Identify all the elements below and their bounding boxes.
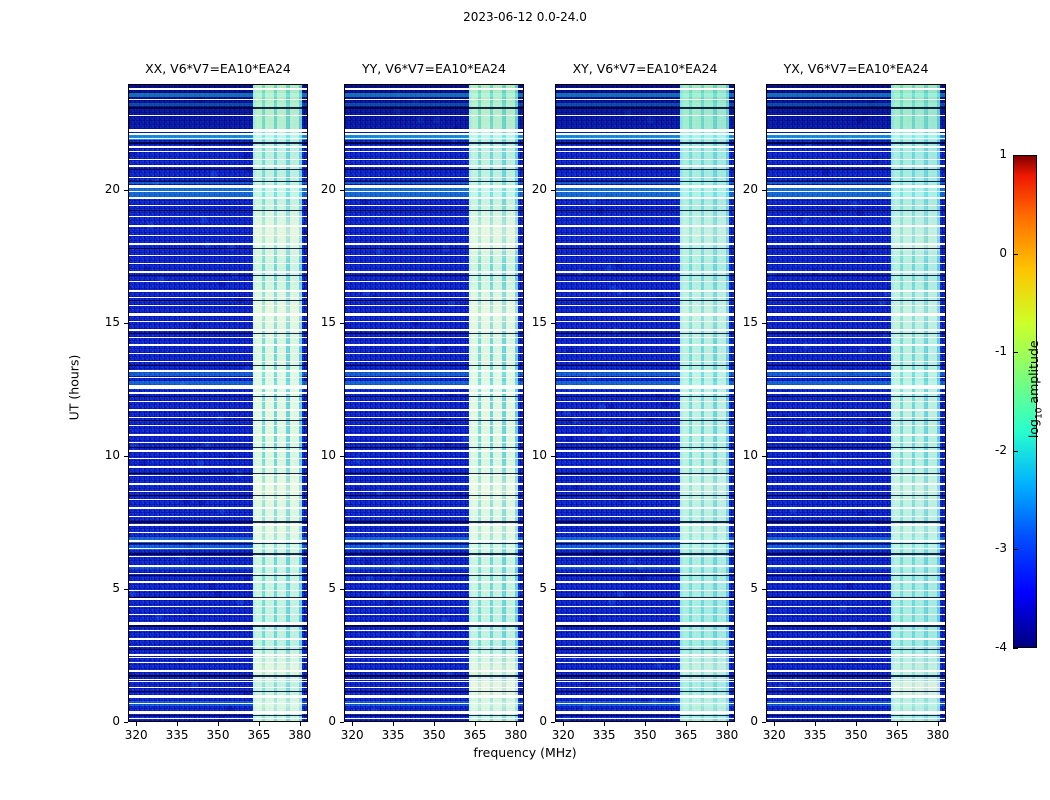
flagged-row [767, 255, 945, 256]
flagged-row [345, 297, 523, 298]
flagged-row [129, 129, 307, 132]
heatmap-dark-row [129, 181, 307, 182]
flagged-row [556, 263, 734, 264]
heatmap-dark-row [556, 333, 734, 334]
flagged-row [345, 197, 523, 199]
colorbar-label-tail: amplitude [1026, 340, 1041, 407]
flagged-row [345, 679, 523, 680]
flagged-row [556, 718, 734, 719]
x-tick-label: 335 [157, 728, 197, 742]
flagged-row [767, 681, 945, 682]
flagged-row [556, 305, 734, 306]
panel-title-xy: XY, V6*V7=EA10*EA24 [555, 60, 735, 78]
flagged-row [767, 466, 945, 468]
x-tick-label: 365 [666, 728, 706, 742]
heatmap-dark-row [767, 210, 945, 211]
heatmap-dark-row [556, 553, 734, 555]
colorbar-label-sub: 10 [1034, 408, 1044, 419]
flagged-row [345, 216, 523, 217]
flagged-row [345, 507, 523, 509]
x-tick-label: 350 [625, 728, 665, 742]
flagged-row [767, 321, 945, 322]
flagged-row [345, 638, 523, 640]
flagged-row [767, 703, 945, 704]
flagged-row [556, 401, 734, 402]
flagged-row [129, 556, 307, 557]
x-tick-label: 380 [280, 728, 320, 742]
flagged-row [767, 679, 945, 680]
flagged-row [767, 516, 945, 517]
flagged-row [556, 483, 734, 485]
flagged-row [345, 263, 523, 264]
flagged-row [767, 185, 945, 188]
colorbar-tick-label: -2 [967, 443, 1007, 457]
flagged-row [345, 425, 523, 426]
heatmap-dark-row [767, 107, 945, 109]
heatmap-dark-row [345, 473, 523, 474]
x-tick-label: 335 [373, 728, 413, 742]
flagged-row [345, 177, 523, 178]
panel-title-yx: YX, V6*V7=EA10*EA24 [766, 60, 946, 78]
heatmap-dark-row [345, 625, 523, 627]
heatmap-panel-yx[interactable] [766, 84, 946, 722]
flagged-row [129, 146, 307, 148]
heatmap-dark-row [767, 691, 945, 692]
flagged-row [556, 646, 734, 647]
heatmap-dark-row [556, 625, 734, 627]
flagged-row [345, 450, 523, 452]
x-tick-label: 380 [707, 728, 747, 742]
flagged-row [129, 417, 307, 418]
flagged-row [556, 657, 734, 658]
flagged-row [767, 662, 945, 663]
flagged-row [345, 305, 523, 306]
flagged-row [345, 138, 523, 139]
flagged-row [129, 281, 307, 282]
flagged-row [345, 499, 523, 500]
heatmap-dark-row [556, 142, 734, 144]
flagged-row [556, 475, 734, 476]
y-tick-mark [762, 323, 766, 324]
heatmap-panel-yy[interactable] [344, 84, 524, 722]
flagged-row [556, 590, 734, 591]
flagged-row [129, 679, 307, 680]
flagged-row [129, 532, 307, 533]
flagged-row [556, 297, 734, 298]
heatmap-dark-row [767, 300, 945, 301]
heatmap-dark-row [129, 447, 307, 448]
flagged-row [345, 377, 523, 378]
flagged-row [345, 133, 523, 135]
flagged-row [767, 305, 945, 306]
x-tick-mark [856, 722, 857, 726]
x-tick-label: 350 [414, 728, 454, 742]
flagged-row [345, 361, 523, 362]
heatmap-dark-row [345, 107, 523, 109]
flagged-row [767, 297, 945, 298]
heatmap-dark-row [767, 649, 945, 650]
flagged-row [345, 191, 523, 192]
heatmap-panel-xy[interactable] [555, 84, 735, 722]
flagged-row [345, 235, 523, 236]
flagged-row [767, 646, 945, 647]
heatmap-dark-row [556, 300, 734, 301]
flagged-row [345, 337, 523, 338]
flagged-row [556, 466, 734, 468]
flagged-row [129, 216, 307, 217]
flagged-row [345, 532, 523, 533]
flagged-row [129, 614, 307, 615]
flagged-row [129, 622, 307, 625]
flagged-row [556, 442, 734, 443]
x-tick-mark [938, 722, 939, 726]
heatmap-dark-row [556, 181, 734, 182]
flagged-row [345, 165, 523, 167]
heatmap-dark-row [129, 675, 307, 677]
heatmap-dark-row [345, 275, 523, 276]
y-tick-label: 15 [513, 315, 547, 329]
flagged-row [345, 205, 523, 206]
flagged-row [556, 524, 734, 526]
flagged-row [345, 670, 523, 672]
flagged-row [345, 681, 523, 682]
flagged-row [767, 687, 945, 688]
y-tick-label: 10 [513, 448, 547, 462]
flagged-row [345, 290, 523, 292]
flagged-row [556, 225, 734, 227]
flagged-row [345, 321, 523, 322]
flagged-row [129, 687, 307, 688]
flagged-row [767, 638, 945, 640]
flagged-row [767, 138, 945, 139]
flagged-row [345, 590, 523, 591]
flagged-row [556, 409, 734, 411]
flagged-row [129, 475, 307, 476]
flagged-row [767, 225, 945, 227]
x-tick-mark [475, 722, 476, 726]
flagged-row [129, 243, 307, 245]
flagged-row [767, 654, 945, 656]
flagged-row [767, 711, 945, 714]
flagged-row [345, 466, 523, 468]
x-tick-mark [604, 722, 605, 726]
heatmap-dark-row [556, 649, 734, 650]
heatmap-dark-row [129, 649, 307, 650]
flagged-row [129, 491, 307, 492]
flagged-row [129, 711, 307, 714]
flagged-row [767, 191, 945, 192]
x-tick-label: 320 [116, 728, 156, 742]
flagged-row [767, 442, 945, 443]
x-tick-mark [686, 722, 687, 726]
flagged-row [767, 590, 945, 591]
flagged-row [345, 401, 523, 402]
flagged-row [767, 491, 945, 492]
flagged-row [129, 159, 307, 160]
y-tick-mark [340, 456, 344, 457]
flagged-row [556, 573, 734, 574]
flagged-row [556, 129, 734, 132]
y-tick-mark [762, 589, 766, 590]
flagged-row [767, 425, 945, 426]
flagged-row [345, 392, 523, 394]
flagged-row [556, 313, 734, 316]
flagged-row [129, 565, 307, 567]
heatmap-dark-row [767, 715, 945, 716]
colorbar-label: log10 amplitude [1026, 309, 1045, 469]
heatmap-dark-row [345, 553, 523, 555]
x-tick-label: 365 [239, 728, 279, 742]
heatmap-dark-row [345, 396, 523, 397]
heatmap-dark-row [129, 365, 307, 366]
heatmap-dark-row [129, 420, 307, 421]
colorbar-tick-label: -1 [967, 344, 1007, 358]
flagged-row [767, 718, 945, 719]
y-tick-label: 20 [86, 182, 120, 196]
flagged-row [556, 205, 734, 206]
flagged-row [129, 361, 307, 362]
heatmap-dark-row [129, 543, 307, 544]
flagged-row [556, 133, 734, 135]
y-tick-label: 10 [302, 448, 336, 462]
flagged-row [129, 697, 307, 698]
flagged-row [345, 475, 523, 476]
heatmap-dark-row [129, 396, 307, 397]
flagged-row [129, 313, 307, 316]
flagged-row [767, 133, 945, 135]
flagged-row [767, 540, 945, 542]
flagged-row [556, 177, 734, 178]
flagged-row [556, 243, 734, 245]
flagged-row [129, 115, 307, 116]
flagged-row [556, 165, 734, 167]
x-tick-label: 350 [198, 728, 238, 742]
flagged-row [345, 99, 523, 100]
heatmap-dark-row [556, 691, 734, 692]
heatmap-dark-row [129, 575, 307, 576]
flagged-row [129, 606, 307, 607]
rfi-burst [253, 197, 302, 267]
y-tick-mark [551, 589, 555, 590]
y-tick-label: 5 [302, 581, 336, 595]
heatmap-dark-row [767, 553, 945, 555]
rfi-burst [469, 505, 518, 557]
flagged-row [556, 681, 734, 682]
flagged-row [767, 370, 945, 372]
heatmap-dark-row [767, 420, 945, 421]
flagged-row [129, 337, 307, 338]
flagged-row [129, 458, 307, 459]
flagged-row [767, 197, 945, 199]
flagged-row [556, 703, 734, 704]
rfi-burst [680, 505, 729, 557]
y-tick-mark [124, 722, 128, 723]
flagged-row [345, 598, 523, 600]
flagged-row [129, 290, 307, 292]
x-tick-label: 350 [836, 728, 876, 742]
flagged-row [345, 88, 523, 90]
flagged-row [129, 353, 307, 354]
heatmap-dark-row [345, 300, 523, 301]
heatmap-dark-row [556, 575, 734, 576]
heatmap-dark-row [556, 169, 734, 170]
colorbar-tick-mark [1013, 352, 1018, 353]
flagged-row [556, 630, 734, 631]
flagged-row [345, 581, 523, 583]
x-tick-mark [259, 722, 260, 726]
flagged-row [556, 146, 734, 148]
flagged-row [556, 290, 734, 292]
heatmap-dark-row [767, 575, 945, 576]
flagged-row [129, 177, 307, 178]
flagged-row [767, 630, 945, 631]
heatmap-dark-row [129, 142, 307, 144]
flagged-row [129, 434, 307, 436]
flagged-row [767, 622, 945, 625]
flagged-row [129, 271, 307, 273]
flagged-row [556, 425, 734, 426]
x-tick-label: 365 [455, 728, 495, 742]
flagged-row [556, 458, 734, 459]
flagged-row [767, 313, 945, 316]
flagged-row [345, 646, 523, 647]
rfi-hot-row [891, 681, 940, 691]
flagged-row [556, 344, 734, 346]
flagged-row [767, 417, 945, 418]
flagged-row [129, 548, 307, 549]
flagged-row [129, 133, 307, 135]
colorbar-tick-mark [1013, 451, 1018, 452]
heatmap-dark-row [345, 543, 523, 544]
flagged-row [345, 385, 523, 389]
panel-title-yy: YY, V6*V7=EA10*EA24 [344, 60, 524, 78]
flagged-row [129, 185, 307, 188]
flagged-row [767, 499, 945, 500]
flagged-row [556, 662, 734, 663]
flagged-row [767, 377, 945, 378]
flagged-row [767, 565, 945, 567]
flagged-row [129, 507, 307, 509]
flagged-row [767, 216, 945, 217]
flagged-row [345, 151, 523, 152]
flagged-row [345, 548, 523, 549]
flagged-row [345, 622, 523, 625]
rfi-burst [891, 505, 940, 557]
heatmap-dark-row [556, 473, 734, 474]
heatmap-dark-row [767, 396, 945, 397]
heatmap-dark-row [767, 543, 945, 544]
heatmap-dark-row [345, 181, 523, 182]
flagged-row [556, 185, 734, 188]
heatmap-panel-xx[interactable] [128, 84, 308, 722]
flagged-row [556, 138, 734, 139]
flagged-row [129, 598, 307, 600]
heatmap-dark-row [129, 715, 307, 716]
x-tick-label: 380 [496, 728, 536, 742]
flagged-row [345, 540, 523, 542]
heatmap-dark-row [767, 181, 945, 182]
flagged-row [345, 225, 523, 227]
flagged-row [129, 718, 307, 719]
flagged-row [767, 392, 945, 394]
flagged-row [129, 321, 307, 322]
heatmap-dark-row [345, 691, 523, 692]
flagged-row [129, 450, 307, 452]
y-tick-mark [340, 722, 344, 723]
y-tick-mark [124, 190, 128, 191]
flagged-row [767, 263, 945, 264]
heatmap-dark-row [129, 210, 307, 211]
x-tick-label: 380 [918, 728, 958, 742]
heatmap-dark-row [129, 333, 307, 334]
flagged-row [129, 297, 307, 298]
heatmap-dark-row [767, 142, 945, 144]
x-tick-label: 320 [543, 728, 583, 742]
flagged-row [345, 281, 523, 282]
heatmap-dark-row [345, 521, 523, 523]
flagged-row [767, 129, 945, 132]
flagged-row [556, 370, 734, 372]
heatmap-dark-row [129, 107, 307, 109]
flagged-row [129, 329, 307, 331]
y-tick-mark [762, 190, 766, 191]
flagged-row [345, 654, 523, 656]
flagged-row [556, 191, 734, 192]
y-tick-mark [551, 323, 555, 324]
flagged-row [345, 630, 523, 631]
y-tick-mark [340, 589, 344, 590]
flagged-row [556, 606, 734, 607]
flagged-row [556, 392, 734, 394]
flagged-row [767, 483, 945, 485]
flagged-row [556, 679, 734, 680]
flagged-row [129, 165, 307, 167]
flagged-row [767, 434, 945, 436]
x-tick-mark [774, 722, 775, 726]
flagged-row [129, 377, 307, 378]
flagged-row [129, 499, 307, 500]
flagged-row [556, 434, 734, 436]
flagged-row [767, 697, 945, 698]
y-tick-mark [124, 589, 128, 590]
heatmap-dark-row [129, 169, 307, 170]
flagged-row [129, 255, 307, 256]
y-tick-label: 20 [513, 182, 547, 196]
flagged-row [767, 524, 945, 526]
flagged-row [556, 516, 734, 517]
y-tick-label: 0 [513, 714, 547, 728]
x-tick-mark [563, 722, 564, 726]
heatmap-dark-row [345, 420, 523, 421]
flagged-row [129, 524, 307, 526]
flagged-row [556, 491, 734, 492]
heatmap-dark-row [556, 675, 734, 677]
flagged-row [556, 197, 734, 199]
flagged-row [767, 573, 945, 574]
flagged-row [767, 670, 945, 672]
flagged-row [556, 598, 734, 600]
flagged-row [556, 377, 734, 378]
flagged-row [556, 99, 734, 100]
x-tick-mark [300, 722, 301, 726]
y-tick-label: 5 [86, 581, 120, 595]
y-tick-mark [124, 456, 128, 457]
flagged-row [767, 353, 945, 354]
flagged-row [129, 151, 307, 152]
heatmap-dark-row [129, 300, 307, 301]
flagged-row [345, 614, 523, 615]
flagged-row [129, 425, 307, 426]
